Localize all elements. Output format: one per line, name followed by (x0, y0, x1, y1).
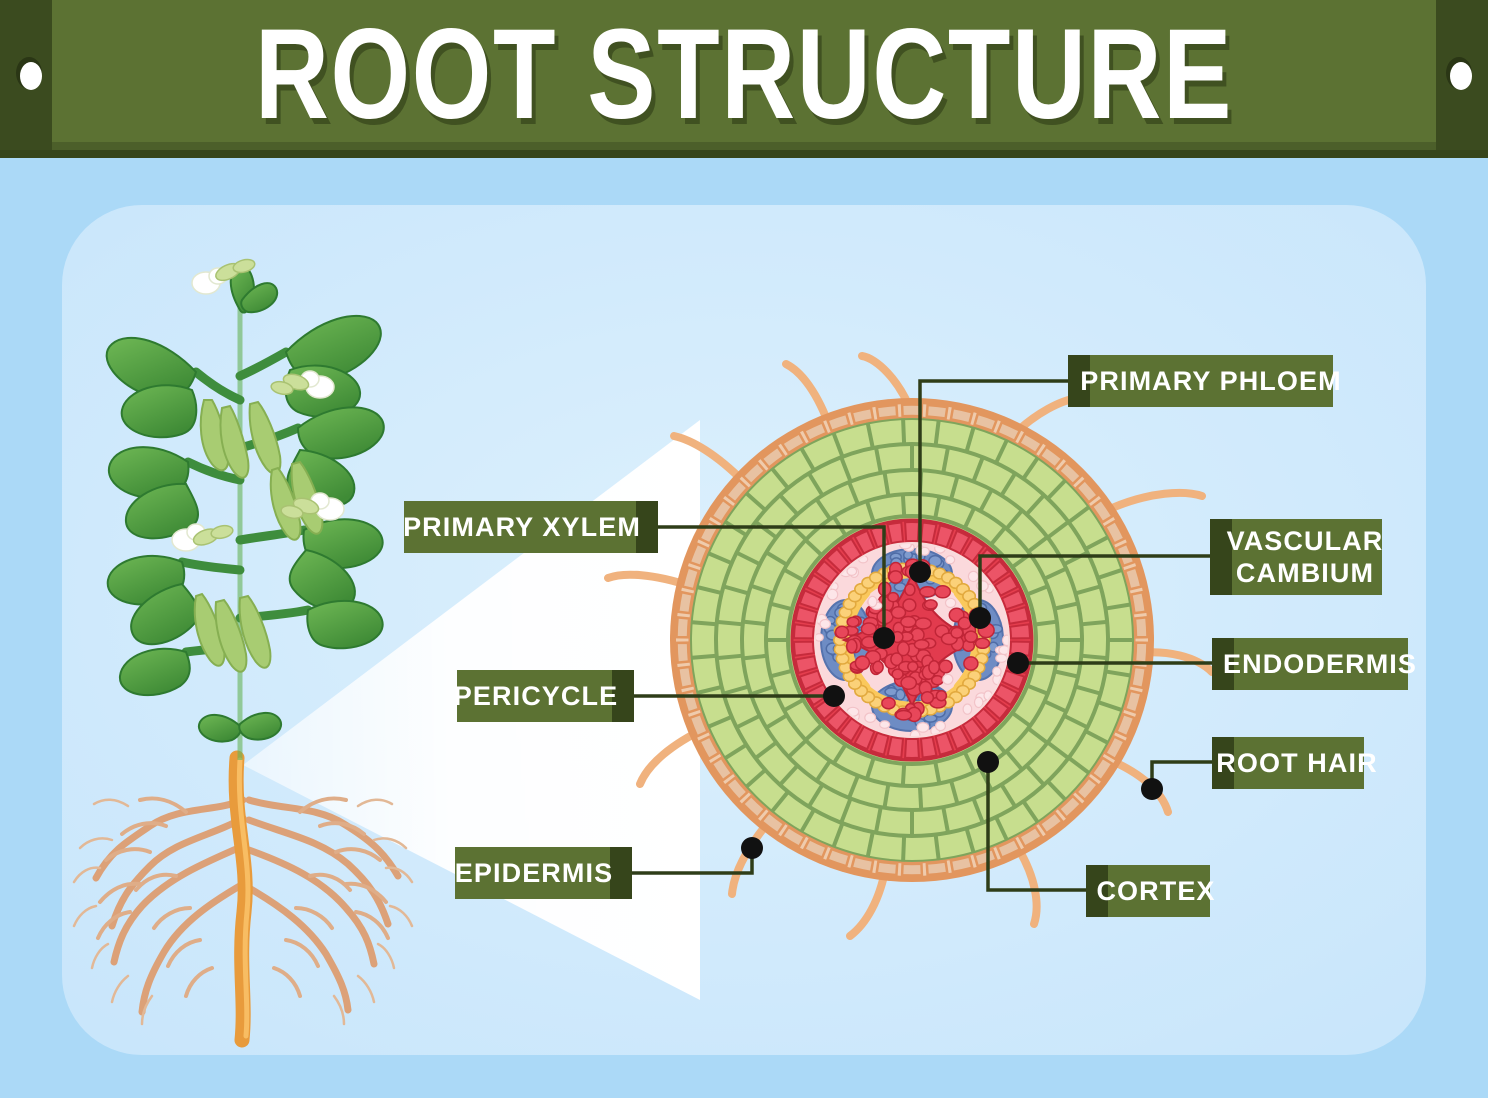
label-vascular-cambium-text-1: VASCULAR (1227, 526, 1384, 556)
label-cortex-text: CORTEX (1096, 876, 1215, 906)
label-primary-xylem[interactable]: PRIMARY XYLEM (403, 501, 658, 553)
label-primary-xylem-text: PRIMARY XYLEM (403, 512, 641, 542)
root-structure-infographic: ROOT STRUCTURE (0, 0, 1488, 1098)
label-pericycle[interactable]: PERICYCLE (454, 670, 634, 722)
label-epidermis[interactable]: EPIDERMIS (455, 847, 632, 899)
label-endodermis[interactable]: ENDODERMIS (1212, 638, 1417, 690)
dot-epidermis (741, 837, 763, 859)
label-pericycle-text: PERICYCLE (454, 681, 618, 711)
dot-primary-xylem (873, 627, 895, 649)
header-banner: ROOT STRUCTURE (0, 0, 1488, 158)
label-cortex[interactable]: CORTEX (1086, 865, 1216, 917)
label-epidermis-text: EPIDERMIS (455, 858, 613, 888)
label-vascular-cambium[interactable]: VASCULAR CAMBIUM (1210, 519, 1383, 595)
label-root-hair[interactable]: ROOT HAIR (1212, 737, 1378, 789)
label-primary-phloem[interactable]: PRIMARY PHLOEM (1068, 355, 1342, 407)
label-endodermis-text: ENDODERMIS (1223, 649, 1417, 679)
dot-pericycle (823, 685, 845, 707)
dot-vascular-cambium (969, 607, 991, 629)
dot-endodermis (1007, 652, 1029, 674)
dot-root-hair (1141, 778, 1163, 800)
label-primary-phloem-text: PRIMARY PHLOEM (1080, 366, 1341, 396)
dot-primary-phloem (909, 561, 931, 583)
label-vascular-cambium-text-2: CAMBIUM (1236, 558, 1374, 588)
label-root-hair-text: ROOT HAIR (1216, 748, 1377, 778)
page-title: ROOT STRUCTURE (255, 2, 1233, 146)
dot-cortex (977, 751, 999, 773)
